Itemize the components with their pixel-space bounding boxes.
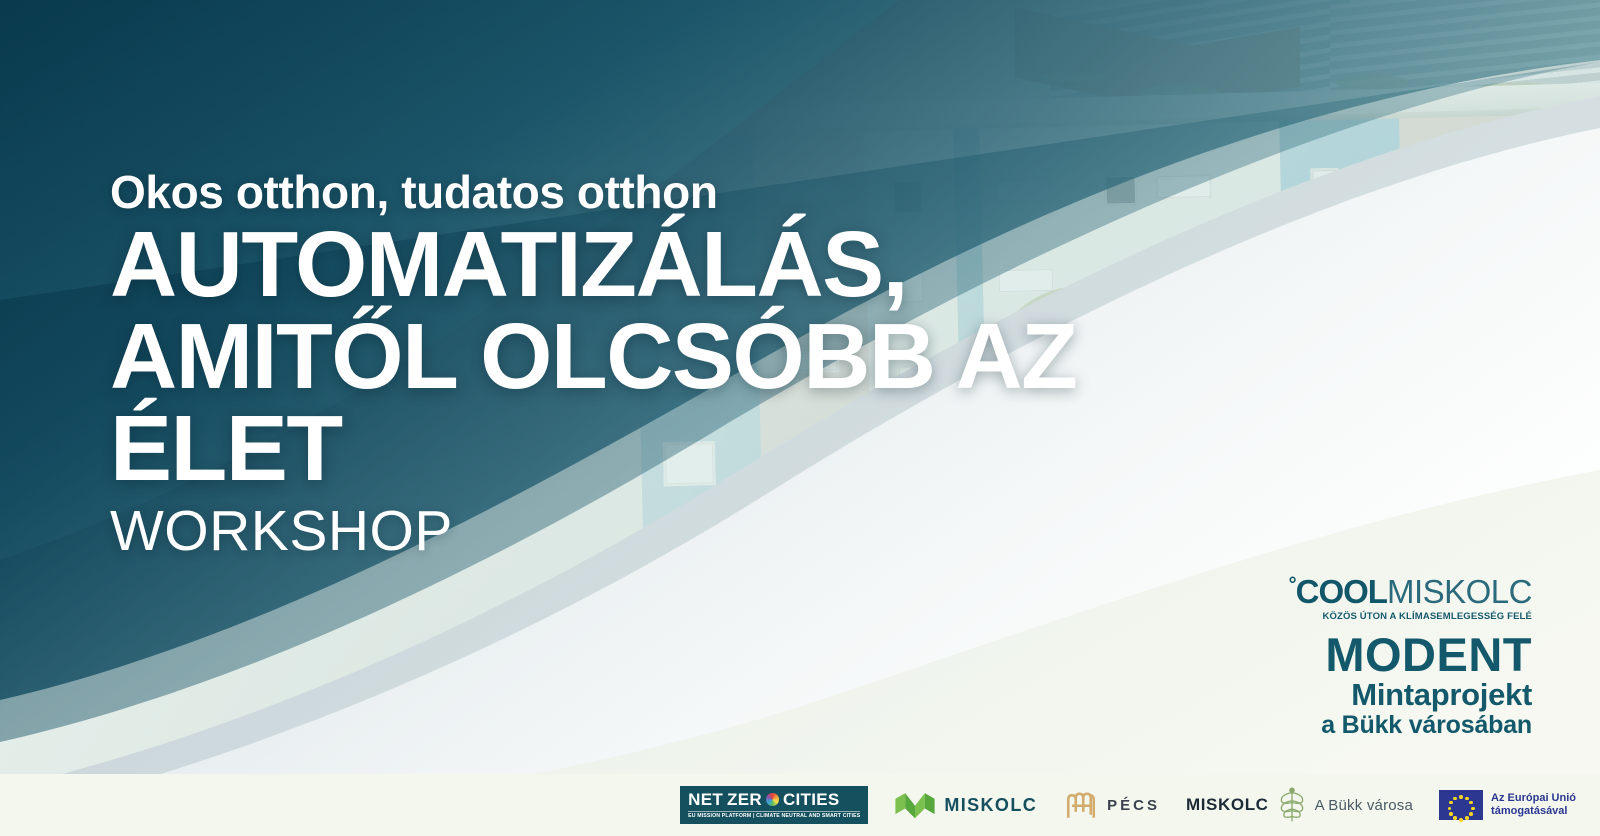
page-title: AUTOMATIZÁLÁS, AMITŐL OLCSÓBB AZ ÉLET — [110, 218, 1310, 494]
bukk-tagline: A Bükk városa — [1315, 797, 1413, 814]
eu-text-line-2: támogatásával — [1491, 805, 1576, 818]
miskolc-m-icon — [894, 790, 936, 820]
eu-support-text: Az Európai Unió támogatásával — [1491, 792, 1576, 818]
logo-european-union[interactable]: Az Európai Unió támogatásával — [1439, 790, 1576, 820]
net-zero-cities-badge: NET ZER CITIES EU MISSION PLATFORM | CLI… — [680, 786, 868, 823]
modent-subtitle-2: a Bükk városában — [1289, 712, 1532, 738]
headline-line-1: AUTOMATIZÁLÁS, — [110, 212, 907, 316]
nzc-word-zero: ZER — [727, 791, 762, 808]
miskolc-light-text: MISKOLC — [1387, 573, 1532, 610]
modent-subtitle-1: Mintaprojekt — [1289, 679, 1532, 711]
pecs-label: PÉCS — [1107, 797, 1160, 814]
rainbow-circle-icon — [766, 793, 779, 806]
logo-miskolc[interactable]: MISKOLC — [894, 790, 1037, 820]
nzc-word-cities: CITIES — [783, 791, 840, 808]
nzc-word-net: NET — [688, 791, 723, 808]
eu-text-line-1: Az Európai Unió — [1491, 792, 1576, 805]
kicker-text: Okos otthon, tudatos otthon — [110, 168, 1310, 216]
nzc-subtitle: EU MISSION PLATFORM | CLIMATE NEUTRAL AN… — [688, 811, 860, 819]
subtitle-text: WORKSHOP — [110, 500, 1310, 563]
partner-logo-bar: NET ZER CITIES EU MISSION PLATFORM | CLI… — [0, 774, 1600, 836]
headline-block: Okos otthon, tudatos otthon AUTOMATIZÁLÁ… — [110, 168, 1310, 563]
miskolc-label: MISKOLC — [944, 795, 1037, 816]
cool-miskolc-wordmark: °COOLMISKOLC — [1289, 575, 1532, 608]
modent-wordmark: MODENT — [1289, 632, 1532, 678]
cool-bold-text: COOL — [1296, 573, 1387, 610]
eu-flag-icon — [1439, 790, 1483, 820]
beech-leaf-icon — [1277, 787, 1307, 823]
bukk-miskolc-label: MISKOLC — [1186, 795, 1269, 815]
pecs-crest-icon — [1063, 789, 1099, 821]
logo-miskolc-bukk[interactable]: MISKOLC A Bükk városa — [1186, 787, 1413, 823]
logo-pecs[interactable]: PÉCS — [1063, 789, 1160, 821]
degree-symbol: ° — [1289, 574, 1296, 596]
brand-tagline: KÖZÖS ÚTON A KLÍMASEMLEGESSÉG FELÉ — [1289, 611, 1532, 622]
cool-miskolc-modent-logo: °COOLMISKOLC KÖZÖS ÚTON A KLÍMASEMLEGESS… — [1289, 575, 1532, 738]
headline-line-2: AMITŐL OLCSÓBB AZ ÉLET — [110, 310, 1310, 494]
poster-canvas: Okos otthon, tudatos otthon AUTOMATIZÁLÁ… — [0, 0, 1600, 836]
logo-net-zero-cities[interactable]: NET ZER CITIES EU MISSION PLATFORM | CLI… — [680, 786, 868, 823]
net-zero-cities-wordmark: NET ZER CITIES — [688, 791, 860, 808]
